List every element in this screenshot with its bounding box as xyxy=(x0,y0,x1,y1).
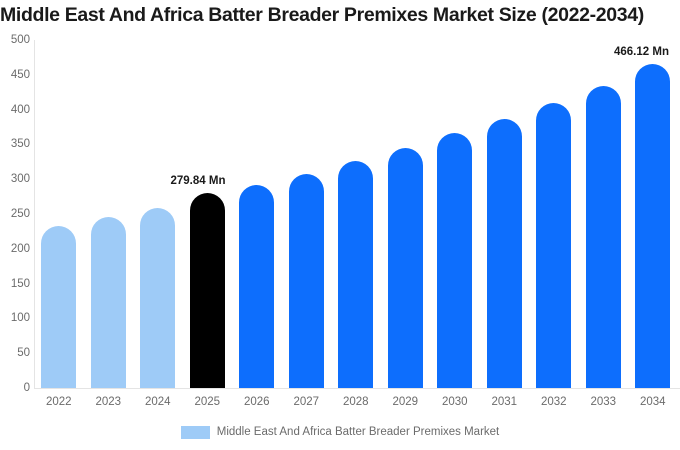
bar-2025[interactable] xyxy=(190,193,225,388)
y-axis-tick-label: 400 xyxy=(0,104,30,116)
bar-2026[interactable] xyxy=(239,185,274,388)
y-axis-tick-label: 200 xyxy=(0,243,30,255)
y-axis-tick-label: 450 xyxy=(0,69,30,81)
x-axis-tick-label-2032: 2032 xyxy=(529,395,579,409)
y-axis-tick-label: 0 xyxy=(0,382,30,394)
bars-layer: 279.84 Mn466.12 Mn xyxy=(34,40,680,388)
bar-2030[interactable] xyxy=(437,133,472,388)
legend-swatch-icon xyxy=(181,426,210,439)
bar-value-label-2034: 466.12 Mn xyxy=(614,46,669,59)
chart-legend: Middle East And Africa Batter Breader Pr… xyxy=(0,425,680,439)
bar-2032[interactable] xyxy=(536,103,571,388)
x-axis-tick-label-2025: 2025 xyxy=(183,395,233,409)
bar-chart: Middle East And Africa Batter Breader Pr… xyxy=(0,0,680,450)
y-axis-tick-label: 50 xyxy=(0,347,30,359)
bar-slot xyxy=(381,40,431,388)
bar-slot xyxy=(430,40,480,388)
bar-slot xyxy=(529,40,579,388)
bar-slot xyxy=(331,40,381,388)
y-axis-tick-label: 150 xyxy=(0,278,30,290)
legend-item-label: Middle East And Africa Batter Breader Pr… xyxy=(217,425,500,439)
bar-2034[interactable] xyxy=(635,64,670,388)
bar-slot xyxy=(84,40,134,388)
x-axis-tick-label-2033: 2033 xyxy=(579,395,629,409)
y-axis: 050100150200250300350400450500 xyxy=(0,40,30,388)
bar-slot xyxy=(133,40,183,388)
x-axis-tick-label-2027: 2027 xyxy=(282,395,332,409)
bar-slot xyxy=(282,40,332,388)
x-axis: 2022202320242025202620272028202920302031… xyxy=(34,395,680,415)
bar-slot xyxy=(232,40,282,388)
chart-title: Middle East And Africa Batter Breader Pr… xyxy=(0,3,680,27)
y-axis-tick-label: 250 xyxy=(0,208,30,220)
y-axis-tick-label: 350 xyxy=(0,138,30,150)
x-axis-line xyxy=(34,388,680,389)
bar-2023[interactable] xyxy=(91,217,126,388)
x-axis-tick-label-2026: 2026 xyxy=(232,395,282,409)
bar-2024[interactable] xyxy=(140,208,175,388)
bar-2029[interactable] xyxy=(388,148,423,388)
bar-value-label-2025: 279.84 Mn xyxy=(171,175,226,188)
bar-2022[interactable] xyxy=(41,226,76,388)
bar-slot: 279.84 Mn xyxy=(183,40,233,388)
bar-slot xyxy=(579,40,629,388)
bar-slot: 466.12 Mn xyxy=(628,40,678,388)
x-axis-tick-label-2029: 2029 xyxy=(381,395,431,409)
y-axis-tick-label: 100 xyxy=(0,312,30,324)
bar-2033[interactable] xyxy=(586,86,621,388)
y-axis-tick-label: 500 xyxy=(0,34,30,46)
x-axis-tick-label-2030: 2030 xyxy=(430,395,480,409)
x-axis-tick-label-2031: 2031 xyxy=(480,395,530,409)
x-axis-tick-label-2022: 2022 xyxy=(34,395,84,409)
bar-slot xyxy=(34,40,84,388)
bar-slot xyxy=(480,40,530,388)
bar-2027[interactable] xyxy=(289,174,324,388)
x-axis-tick-label-2024: 2024 xyxy=(133,395,183,409)
y-axis-tick-label: 300 xyxy=(0,173,30,185)
bar-2028[interactable] xyxy=(338,161,373,388)
x-axis-tick-label-2028: 2028 xyxy=(331,395,381,409)
bar-2031[interactable] xyxy=(487,119,522,388)
x-axis-tick-label-2023: 2023 xyxy=(84,395,134,409)
x-axis-tick-label-2034: 2034 xyxy=(628,395,678,409)
